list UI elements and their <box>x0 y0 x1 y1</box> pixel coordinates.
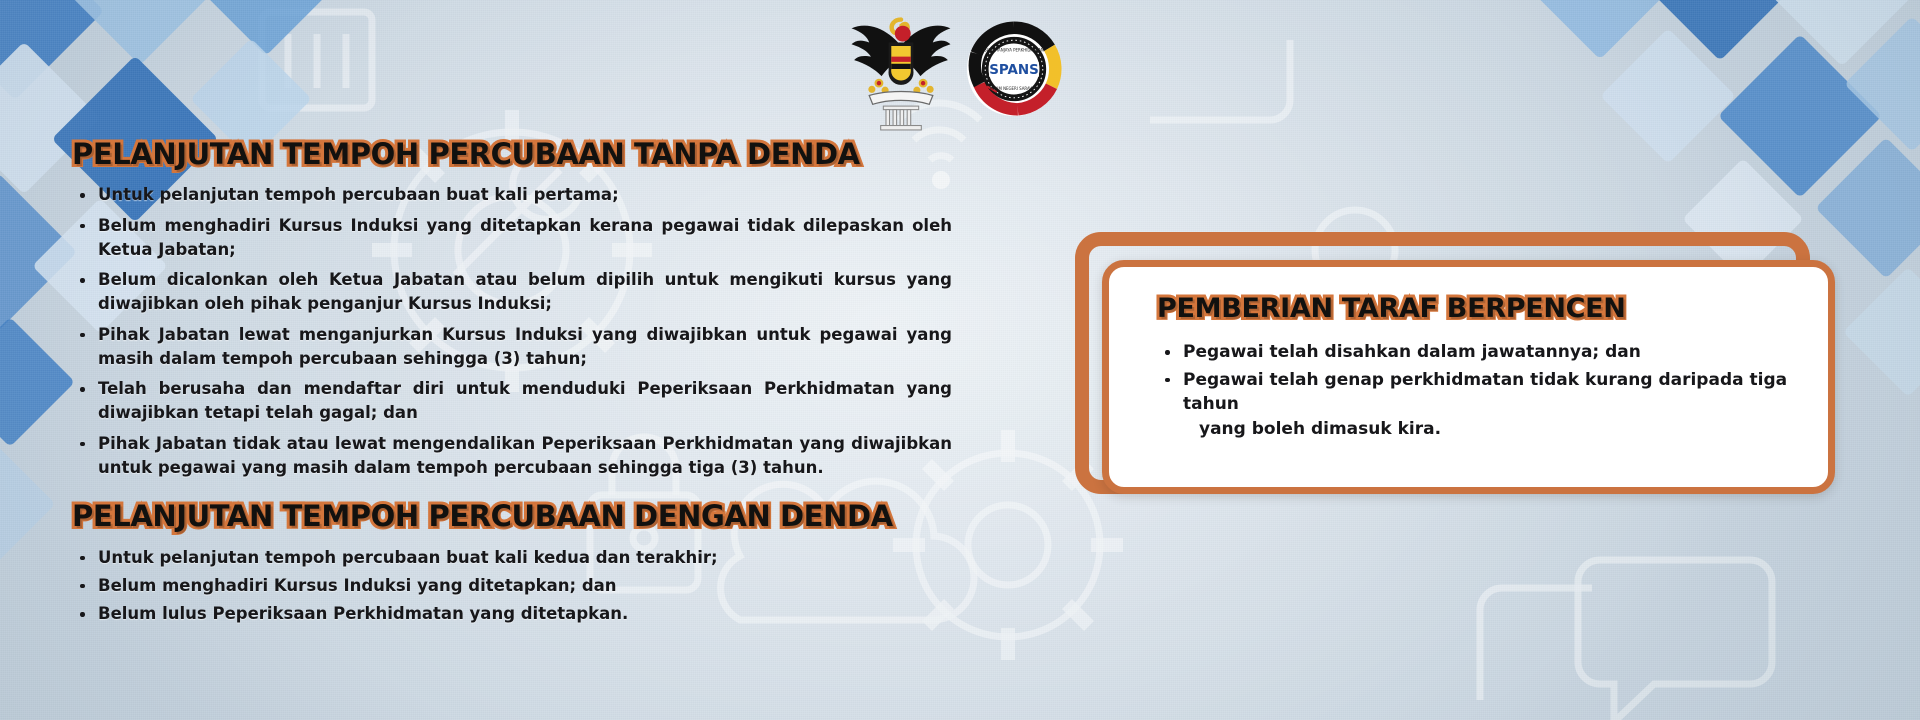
list-item: Pihak Jabatan tidak atau lewat mengendal… <box>72 432 952 481</box>
bullet-list-tanpa-denda: Untuk pelanjutan tempoh percubaan buat k… <box>72 183 952 480</box>
list-item-text: Pegawai telah genap perkhidmatan tidak k… <box>1183 370 1787 415</box>
list-item: Untuk pelanjutan tempoh percubaan buat k… <box>72 183 952 207</box>
list-item: Belum lulus Peperiksaan Perkhidmatan yan… <box>72 602 972 626</box>
list-item: Untuk pelanjutan tempoh percubaan buat k… <box>72 546 972 570</box>
logo-group: SPANS SURUHANJAYA PERKHIDMATAN AWAM NEGE… <box>848 4 1108 134</box>
list-item: Belum menghadiri Kursus Induksi yang dit… <box>72 214 952 263</box>
list-item-continuation: yang boleh dimasuk kira. <box>1183 417 1794 442</box>
list-item: Pihak Jabatan lewat menganjurkan Kursus … <box>72 323 952 372</box>
section-tanpa-denda: PELANJUTAN TEMPOH PERCUBAAN TANPA DENDA … <box>72 138 952 480</box>
section-dengan-denda: PELANJUTAN TEMPOH PERCUBAAN DENGAN DENDA… <box>72 500 972 626</box>
list-item: Telah berusaha dan mendaftar diri untuk … <box>72 377 952 426</box>
section-heading-dengan-denda: PELANJUTAN TEMPOH PERCUBAAN DENGAN DENDA <box>72 500 893 532</box>
left-content-column: PELANJUTAN TEMPOH PERCUBAAN TANPA DENDA … <box>72 138 972 630</box>
card-bullet-list: Pegawai telah disahkan dalam jawatannya;… <box>1157 340 1794 442</box>
svg-text:SPANS: SPANS <box>989 63 1039 78</box>
spans-logo-icon: SPANS SURUHANJAYA PERKHIDMATAN AWAM NEGE… <box>966 21 1062 117</box>
card-body: PEMBERIAN TARAF BERPENCEN Pegawai telah … <box>1102 260 1835 494</box>
card-heading: PEMBERIAN TARAF BERPENCEN <box>1157 293 1626 324</box>
pemberian-taraf-berpencen-card: PEMBERIAN TARAF BERPENCEN Pegawai telah … <box>1075 232 1835 502</box>
list-item: Belum menghadiri Kursus Induksi yang dit… <box>72 574 972 598</box>
svg-text:SURUHANJAYA PERKHIDMATAN: SURUHANJAYA PERKHIDMATAN <box>984 48 1044 53</box>
list-item: Pegawai telah disahkan dalam jawatannya;… <box>1157 340 1794 365</box>
sarawak-state-crest-icon <box>848 7 954 131</box>
section-heading-tanpa-denda: PELANJUTAN TEMPOH PERCUBAAN TANPA DENDA <box>72 138 860 170</box>
list-item: Pegawai telah genap perkhidmatan tidak k… <box>1157 368 1794 442</box>
svg-text:AWAM NEGERI SARAWAK: AWAM NEGERI SARAWAK <box>990 86 1039 91</box>
infographic-banner: SPANS SURUHANJAYA PERKHIDMATAN AWAM NEGE… <box>0 0 1920 720</box>
list-item: Belum dicalonkan oleh Ketua Jabatan atau… <box>72 268 952 317</box>
bullet-list-dengan-denda: Untuk pelanjutan tempoh percubaan buat k… <box>72 546 972 627</box>
